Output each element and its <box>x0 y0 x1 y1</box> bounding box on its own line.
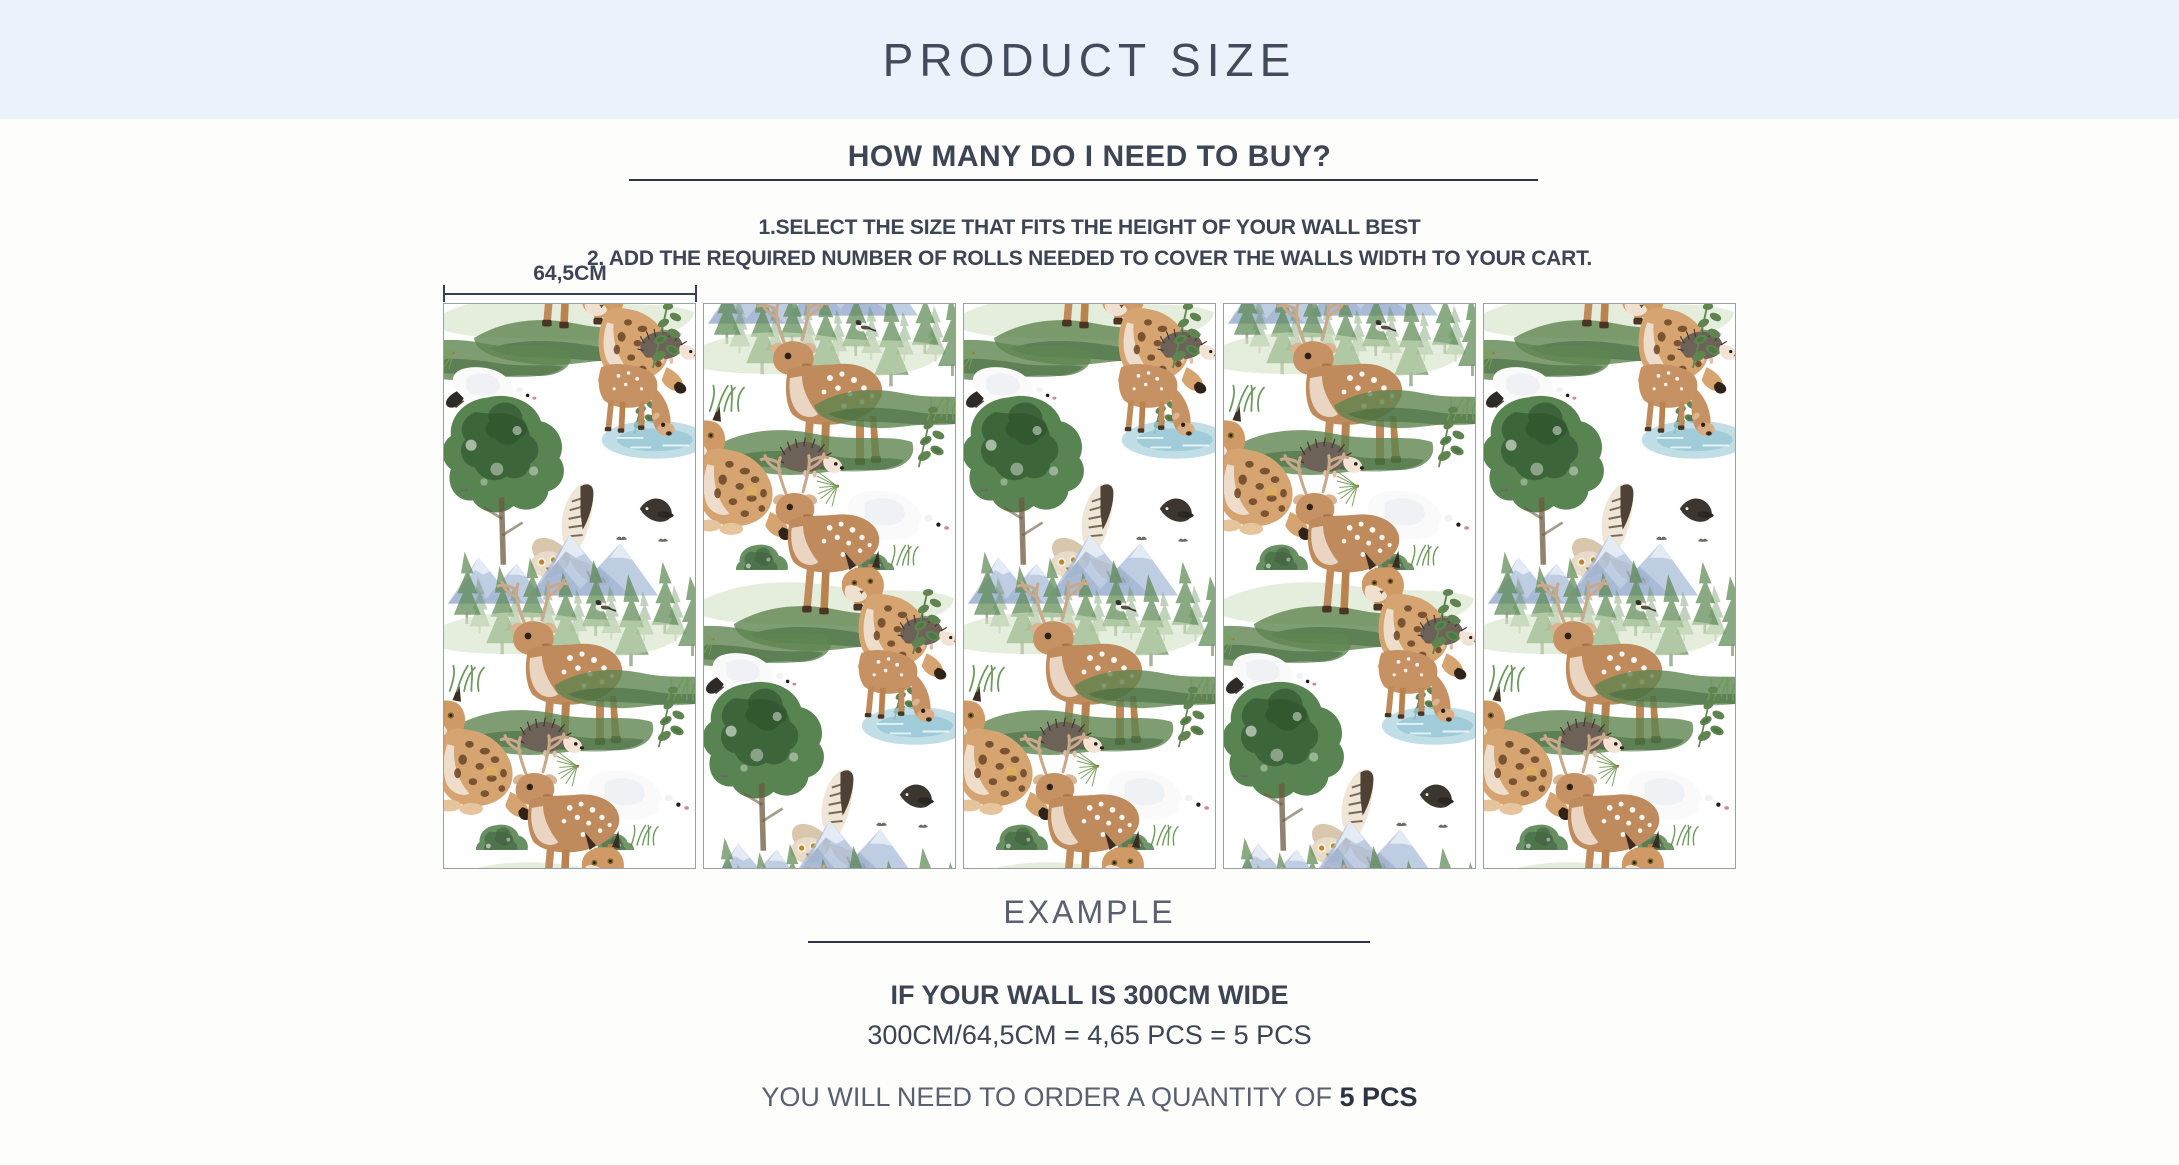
wallpaper-panel-2[interactable] <box>703 303 956 869</box>
wallpaper-panel-3[interactable] <box>963 303 1216 869</box>
wallpaper-art-4 <box>1224 303 1475 869</box>
divider-example <box>808 941 1370 943</box>
example-wall-width: IF YOUR WALL IS 300CM WIDE <box>0 975 2179 1015</box>
width-dimension: 64,5CM <box>443 262 697 302</box>
example-title: EXAMPLE <box>0 894 2179 931</box>
example-conclusion-prefix: YOU WILL NEED TO ORDER A QUANTITY OF <box>761 1082 1339 1112</box>
wallpaper-art-1 <box>444 303 695 869</box>
wallpaper-art-3 <box>964 303 1215 869</box>
example-body: IF YOUR WALL IS 300CM WIDE 300CM/64,5CM … <box>0 975 2179 1113</box>
product-size-page: PRODUCT SIZE HOW MANY DO I NEED TO BUY? … <box>0 0 2179 1165</box>
instruction-step-2: 2. ADD THE REQUIRED NUMBER OF ROLLS NEED… <box>0 243 2179 274</box>
instruction-steps: 1.SELECT THE SIZE THAT FITS THE HEIGHT O… <box>0 212 2179 274</box>
page-title: PRODUCT SIZE <box>883 33 1297 87</box>
example-conclusion: YOU WILL NEED TO ORDER A QUANTITY OF 5 P… <box>0 1082 2179 1113</box>
example-conclusion-value: 5 PCS <box>1340 1082 1418 1112</box>
dimension-line <box>443 293 697 295</box>
instructions-section: HOW MANY DO I NEED TO BUY? 1.SELECT THE … <box>0 119 2179 274</box>
wallpaper-panel-5[interactable] <box>1483 303 1736 869</box>
instructions-subtitle: HOW MANY DO I NEED TO BUY? <box>0 140 2179 174</box>
wallpaper-panel-row <box>443 303 1735 869</box>
divider-main <box>629 179 1538 181</box>
instruction-step-1: 1.SELECT THE SIZE THAT FITS THE HEIGHT O… <box>0 212 2179 243</box>
wallpaper-art-2 <box>704 303 955 869</box>
header-band: PRODUCT SIZE <box>0 0 2179 119</box>
wallpaper-panel-4[interactable] <box>1223 303 1476 869</box>
example-calculation: 300CM/64,5CM = 4,65 PCS = 5 PCS <box>0 1015 2179 1055</box>
wallpaper-panel-1[interactable] <box>443 303 696 869</box>
wallpaper-art-5 <box>1484 303 1735 869</box>
dimension-label: 64,5CM <box>443 262 697 286</box>
